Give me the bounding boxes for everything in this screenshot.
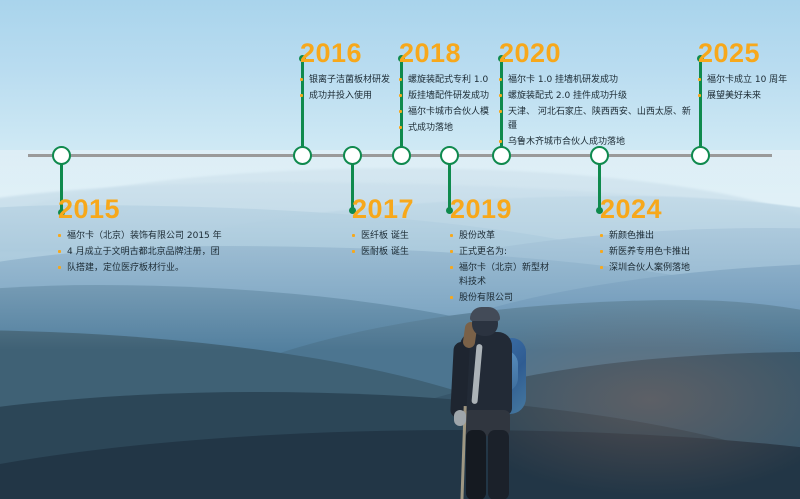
bullet-item: 正式更名为:: [450, 245, 550, 259]
hiker-leg-right: [488, 430, 509, 499]
hiker-cap: [470, 307, 500, 321]
hiker-hand: [454, 410, 466, 426]
bullet-item: 福尔卡 1.0 挂墙机研发成功: [499, 73, 694, 87]
bullet-item: 银离子洁菌板材研发: [300, 73, 395, 87]
timeline-entry-2025[interactable]: 2025 福尔卡成立 10 周年 展望美好未来: [698, 40, 798, 105]
timeline-entry-2020[interactable]: 2020 福尔卡 1.0 挂墙机研发成功 螺旋装配式 2.0 挂件成功升级 天津…: [499, 40, 694, 151]
bullet-item: 医纤板 诞生: [352, 229, 447, 243]
bullet-list-2017: 医纤板 诞生 医耐板 诞生: [352, 229, 447, 259]
timeline-entry-2016[interactable]: 2016 银离子洁菌板材研发 成功并投入使用: [300, 40, 395, 105]
timeline-node-2017[interactable]: [343, 146, 362, 165]
year-label-2025: 2025: [698, 40, 798, 67]
timeline-node-2018[interactable]: [392, 146, 411, 165]
bullet-list-2019: 股份改革 正式更名为: 福尔卡（北京）新型材料技术 股份有限公司: [450, 229, 550, 305]
timeline-entry-2018[interactable]: 2018 螺旋装配式专利 1.0 版挂墙配件研发成功 福尔卡城市合伙人模 式成功…: [399, 40, 494, 137]
bullet-list-2015: 福尔卡（北京）装饰有限公司 2015 年 4 月成立于文明古都北京品牌注册，团 …: [58, 229, 233, 275]
bullet-item-cont: 股份有限公司: [450, 291, 550, 305]
hiker-leg-left: [466, 430, 486, 499]
bullet-item: 螺旋装配式 2.0 挂件成功升级: [499, 89, 694, 103]
bullet-item: 福尔卡城市合伙人模: [399, 105, 494, 119]
timeline-entry-2017[interactable]: 2017 医纤板 诞生 医耐板 诞生: [352, 196, 447, 261]
year-label-2024: 2024: [600, 196, 710, 223]
bullet-list-2020: 福尔卡 1.0 挂墙机研发成功 螺旋装配式 2.0 挂件成功升级 天津、 河北石…: [499, 73, 694, 149]
timeline-entry-2024[interactable]: 2024 新颜色推出 新医养专用色卡推出 深圳合伙人案例落地: [600, 196, 710, 277]
bullet-item: 福尔卡（北京）装饰有限公司 2015 年: [58, 229, 233, 243]
year-label-2019: 2019: [450, 196, 550, 223]
bullet-item: 新医养专用色卡推出: [600, 245, 710, 259]
timeline-node-2019[interactable]: [440, 146, 459, 165]
timeline-node-2024[interactable]: [590, 146, 609, 165]
bullet-item-cont: 福尔卡（北京）新型材料技术: [450, 261, 550, 289]
bullet-item-cont: 式成功落地: [399, 121, 494, 135]
bullet-list-2025: 福尔卡成立 10 周年 展望美好未来: [698, 73, 798, 103]
year-label-2016: 2016: [300, 40, 395, 67]
bullet-item: 股份改革: [450, 229, 550, 243]
bullet-item: 天津、 河北石家庄、陕西西安、山西太原、新疆: [499, 105, 694, 133]
bullet-item-cont: 队搭建，定位医疗板材行业。: [58, 261, 233, 275]
timeline-entry-2015[interactable]: 2015 福尔卡（北京）装饰有限公司 2015 年 4 月成立于文明古都北京品牌…: [58, 196, 233, 277]
bullet-list-2018: 螺旋装配式专利 1.0 版挂墙配件研发成功 福尔卡城市合伙人模 式成功落地: [399, 73, 494, 135]
bullet-item: 医耐板 诞生: [352, 245, 447, 259]
year-label-2017: 2017: [352, 196, 447, 223]
timeline-entry-2019[interactable]: 2019 股份改革 正式更名为: 福尔卡（北京）新型材料技术 股份有限公司: [450, 196, 550, 307]
year-label-2020: 2020: [499, 40, 694, 67]
bullet-item-cont: 版挂墙配件研发成功: [399, 89, 494, 103]
bullet-list-2016: 银离子洁菌板材研发 成功并投入使用: [300, 73, 395, 103]
bullet-item: 展望美好未来: [698, 89, 798, 103]
year-label-2018: 2018: [399, 40, 494, 67]
bullet-list-2024: 新颜色推出 新医养专用色卡推出 深圳合伙人案例落地: [600, 229, 710, 275]
bullet-item: 新颜色推出: [600, 229, 710, 243]
bullet-item: 福尔卡成立 10 周年: [698, 73, 798, 87]
bullet-item: 螺旋装配式专利 1.0: [399, 73, 494, 87]
timeline-node-2025[interactable]: [691, 146, 710, 165]
bullet-item-cont: 成功并投入使用: [300, 89, 395, 103]
timeline-node-2015[interactable]: [52, 146, 71, 165]
infographic-canvas: 2015 福尔卡（北京）装饰有限公司 2015 年 4 月成立于文明古都北京品牌…: [0, 0, 800, 499]
year-label-2015: 2015: [58, 196, 233, 223]
hiker-figure: [440, 310, 550, 499]
bullet-item-cont: 4 月成立于文明古都北京品牌注册，团: [58, 245, 233, 259]
timeline-node-2016[interactable]: [293, 146, 312, 165]
bullet-item: 深圳合伙人案例落地: [600, 261, 710, 275]
